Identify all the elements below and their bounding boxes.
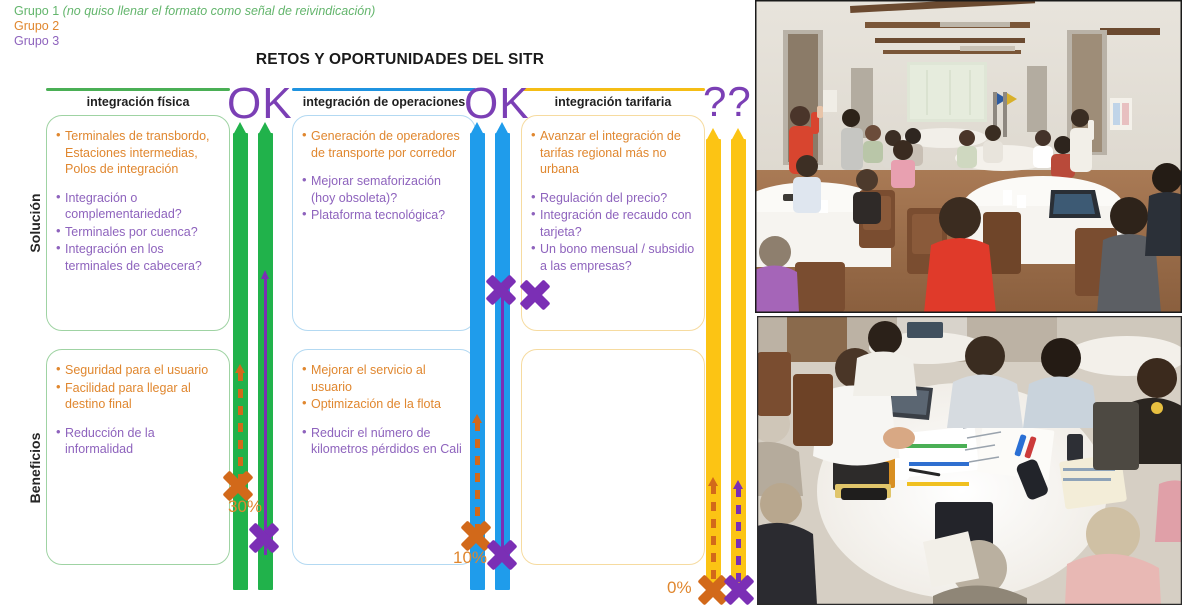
column-integracion-operaciones: integración de operaciones Generación de… [292, 88, 476, 565]
bullet-item: Terminales por cuenca? [56, 224, 221, 241]
bullet-item: Integración o complementariedad? [56, 190, 221, 223]
stop-marker-grupo3-col2 [485, 538, 519, 572]
slide-canvas: Grupo 1 (no quiso llenar el formato como… [0, 0, 1182, 611]
bullet-item: Seguridad para el usuario [56, 362, 221, 379]
legend-note-grupo-1: (no quiso llenar el formato como señal d… [63, 4, 376, 18]
bullet-item: Un bono mensual / subsidio a las empresa… [531, 241, 696, 274]
progress-label-col3: 0% [667, 578, 692, 598]
grupo3-progress-arrow-col2 [498, 288, 507, 560]
grupo3-progress-arrow-col3 [734, 480, 743, 584]
legend-label-grupo-1: Grupo 1 [14, 4, 59, 18]
benefits-card-1: Seguridad para el usuario Facilidad para… [46, 349, 230, 565]
solution-card-2: Generación de operadores de transporte p… [292, 115, 476, 331]
bullet-item: Integración de recaudo con tarjeta? [531, 207, 696, 240]
column-header-3: integración tarifaria [521, 91, 705, 115]
bullet-item: Reducir el número de kilometros pérdidos… [302, 425, 467, 458]
bullet-item: Mejorar el servicio al usuario [302, 362, 467, 395]
bullet-item: Plataforma tecnológica? [302, 207, 467, 224]
legend-item-grupo-2: Grupo 2 [14, 19, 375, 34]
verdict-badge-column-2: OK [464, 82, 530, 126]
grupo2-progress-arrow-col2 [473, 414, 482, 534]
benefits-card-3 [521, 349, 705, 565]
bullet-item: Avanzar el integración de tarifas region… [531, 128, 696, 178]
verdict-badge-column-1: OK [227, 82, 293, 126]
stop-marker-grupo3-col2-top [484, 273, 518, 307]
bullet-item: Regulación del precio? [531, 190, 696, 207]
benefits-card-2: Mejorar el servicio al usuario Optimizac… [292, 349, 476, 565]
grupo2-progress-arrow-col3 [709, 477, 718, 584]
bullet-item: Generación de operadores de transporte p… [302, 128, 467, 161]
stop-marker-grupo3-col1 [247, 521, 281, 555]
legend-label-grupo-2: Grupo 2 [14, 19, 59, 33]
bullet-item: Reducción de la informalidad [56, 425, 221, 458]
legend-item-grupo-3: Grupo 3 [14, 34, 375, 49]
group-legend: Grupo 1 (no quiso llenar el formato como… [14, 4, 375, 49]
grupo3-progress-arrow-col1 [261, 270, 270, 555]
row-label-beneficios: Beneficios [27, 403, 43, 533]
legend-item-grupo-1: Grupo 1 (no quiso llenar el formato como… [14, 4, 375, 19]
bullet-item: Terminales de transbordo, Estaciones int… [56, 128, 221, 178]
verdict-badge-column-3: ?? [703, 80, 752, 124]
bullet-item: Facilidad para llegar al destino final [56, 380, 221, 413]
progress-label-col1: 30% [228, 497, 262, 517]
row-label-solucion: Solución [27, 158, 43, 288]
solution-card-1: Terminales de transbordo, Estaciones int… [46, 115, 230, 331]
column-integracion-fisica: integración física Terminales de transbo… [46, 88, 230, 565]
column-header-2: integración de operaciones [292, 91, 476, 115]
column-integracion-tarifaria: integración tarifaria Avanzar el integra… [521, 88, 705, 565]
slide-title: RETOS Y OPORTUNIDADES DEL SITR [170, 51, 630, 69]
bullet-item: Optimización de la flota [302, 396, 467, 413]
progress-label-col2: 10% [453, 548, 487, 568]
workshop-plenary-room-photo [755, 0, 1182, 313]
workshop-roundtable-photo [757, 316, 1182, 605]
legend-label-grupo-3: Grupo 3 [14, 34, 59, 48]
progress-arrow-green-left [233, 122, 248, 590]
column-header-1: integración física [46, 91, 230, 115]
bullet-item: Mejorar semaforización (hoy obsoleta)? [302, 173, 467, 206]
stop-marker-grupo3-col3-upper [518, 278, 552, 312]
stop-marker-grupo3-col3 [722, 573, 756, 607]
bullet-item: Integración en los terminales de cabecer… [56, 241, 221, 274]
